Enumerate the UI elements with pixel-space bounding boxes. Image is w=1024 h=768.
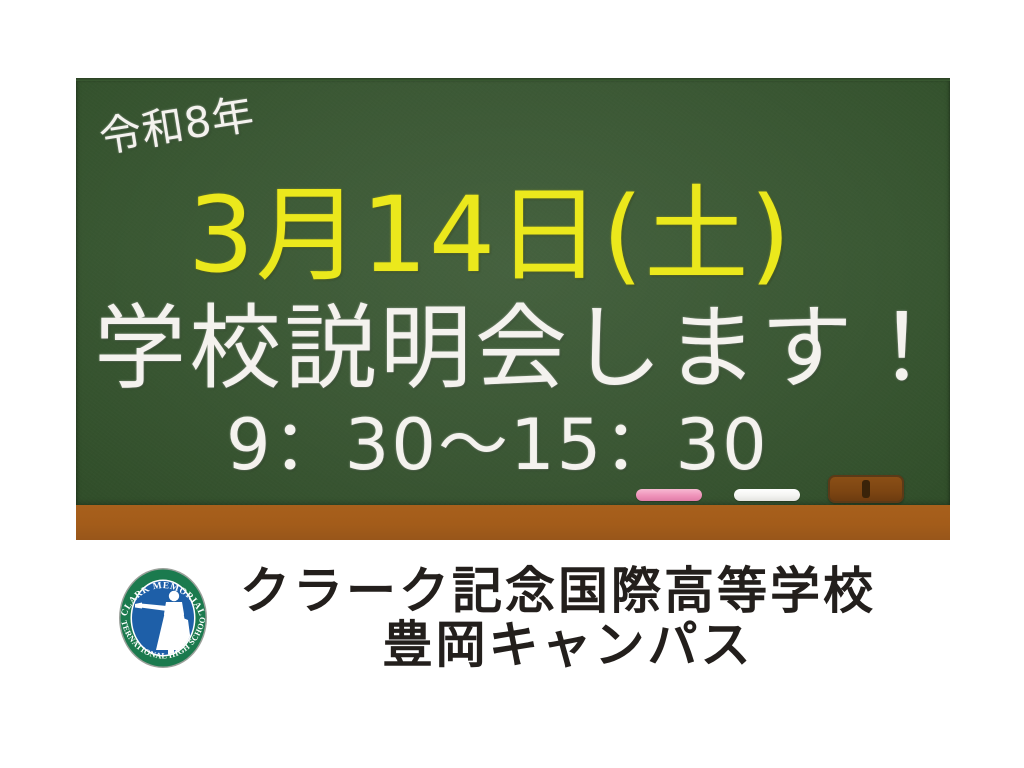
footer: CLARK MEMORIAL INTERNATIONAL HIGH SCHOOL… (104, 552, 924, 684)
blackboard-eraser (828, 475, 904, 503)
white-chalk-stick (734, 489, 800, 501)
event-time-text: 9：30～15：30 (226, 389, 769, 490)
school-logo: CLARK MEMORIAL INTERNATIONAL HIGH SCHOOL (104, 554, 222, 682)
pink-chalk-stick (636, 489, 702, 501)
school-name-block: クラーク記念国際高等学校 豊岡キャンパス (240, 564, 924, 672)
school-name-line2: 豊岡キャンパス (240, 618, 924, 672)
event-headline-text: 学校説明会します！ (94, 274, 950, 407)
chalk-writing-layer: 令和8年 3月14日(土) 学校説明会します！ 9：30～15：30 (76, 78, 950, 505)
school-name-line1: クラーク記念国際高等学校 (240, 564, 924, 618)
blackboard: 令和8年 3月14日(土) 学校説明会します！ 9：30～15：30 (76, 78, 950, 540)
blackboard-ledge (76, 505, 950, 540)
clark-memorial-seal-icon: CLARK MEMORIAL INTERNATIONAL HIGH SCHOOL (104, 554, 222, 682)
poster-root: 令和8年 3月14日(土) 学校説明会します！ 9：30～15：30 (0, 0, 1024, 768)
